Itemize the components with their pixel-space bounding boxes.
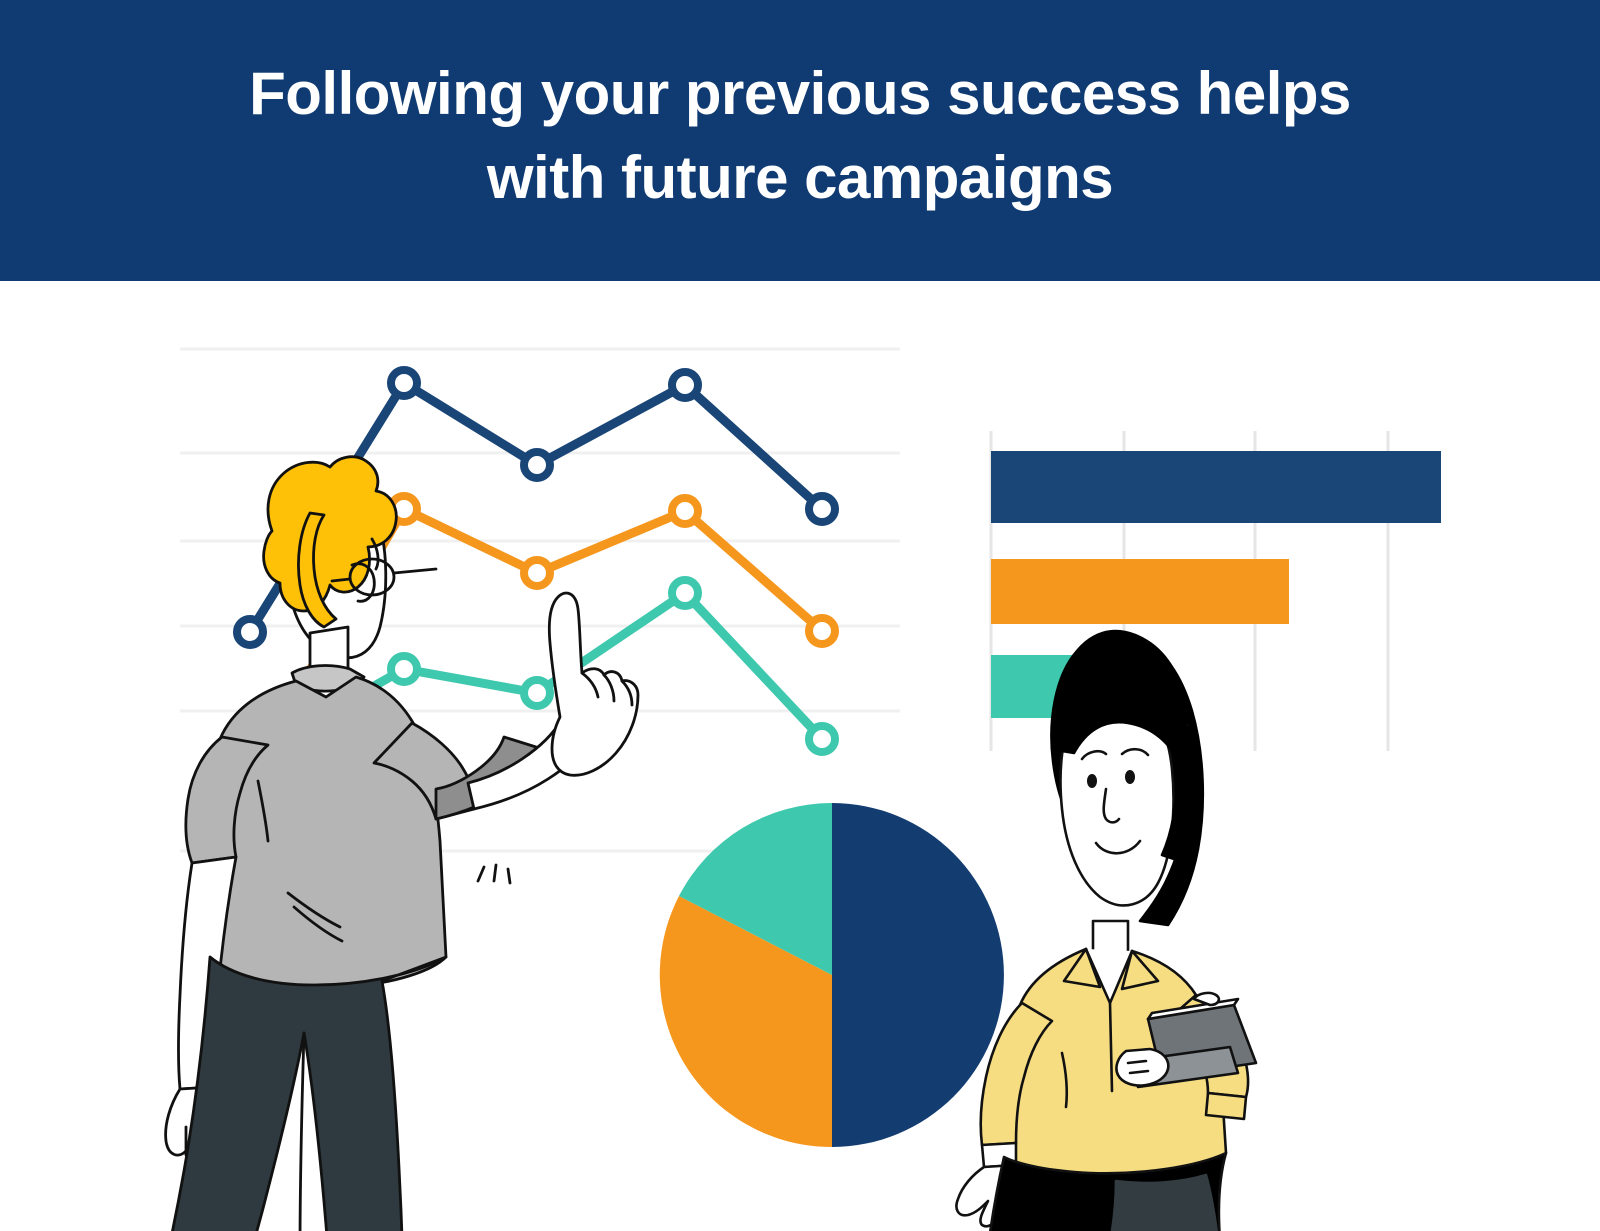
trouser-seam: [300, 1033, 304, 1231]
illustration-stage: [0, 281, 1600, 1231]
emphasis-tick-1: [478, 867, 484, 881]
page-title-line-2: with future campaigns: [0, 136, 1600, 220]
emphasis-tick-3: [508, 869, 510, 883]
poster-page: Following your previous success helps wi…: [0, 0, 1600, 1231]
man-pointing-at-chart: [0, 281, 1600, 1231]
header-banner: Following your previous success helps wi…: [0, 0, 1600, 281]
page-title: Following your previous success helps wi…: [0, 52, 1600, 220]
page-title-line-1: Following your previous success helps: [0, 52, 1600, 136]
glasses-bridge: [332, 579, 350, 581]
emphasis-tick-2: [494, 865, 496, 881]
glasses-temple: [394, 569, 436, 573]
